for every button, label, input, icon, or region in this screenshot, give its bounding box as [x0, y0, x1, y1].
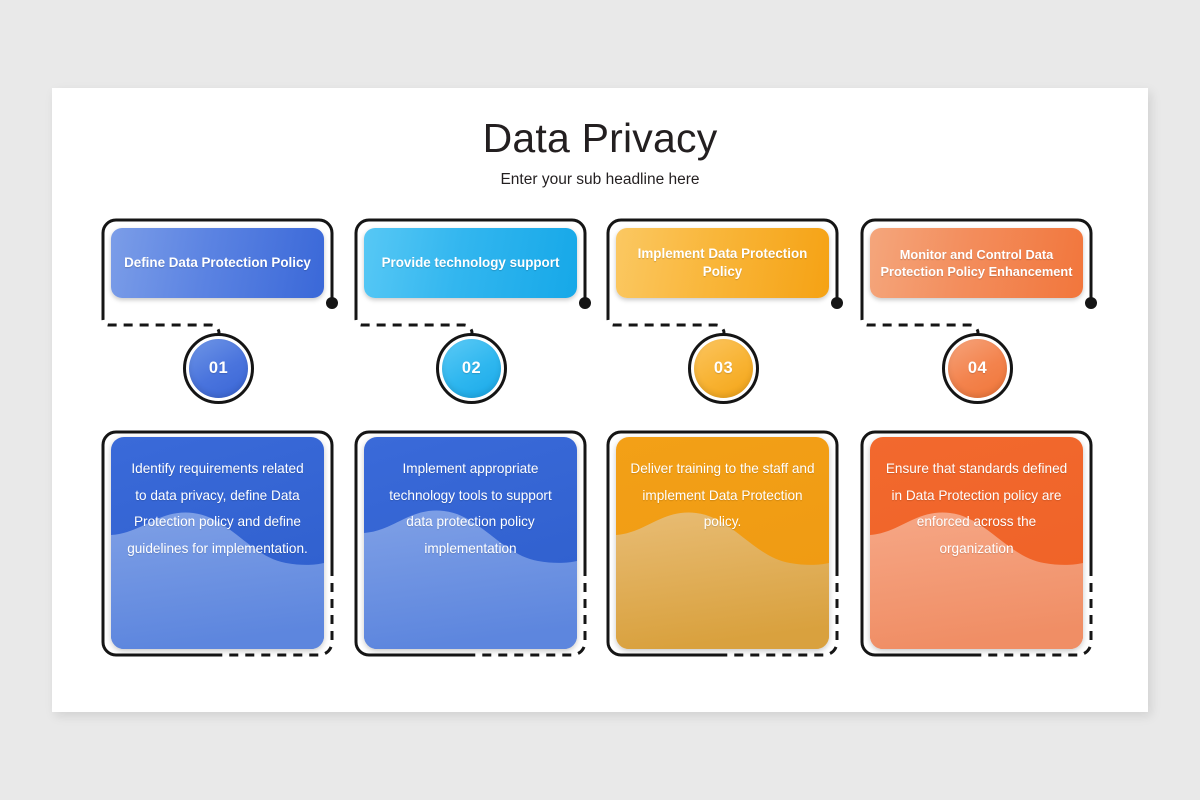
- slide-canvas: Data Privacy Enter your sub headline her…: [0, 0, 1200, 800]
- step-number-badge-03[interactable]: 03: [688, 333, 759, 404]
- connector-dot-02: [579, 297, 591, 309]
- step-body-text: Deliver training to the staff and implem…: [616, 456, 829, 536]
- page-subtitle: Enter your sub headline here: [52, 171, 1148, 189]
- step-top-label: Define Data Protection Policy: [124, 254, 311, 272]
- step-bottom-card-01[interactable]: Identify requirements related to data pr…: [111, 437, 324, 649]
- step-top-card-01[interactable]: Define Data Protection Policy: [111, 228, 324, 298]
- step-top-label: Provide technology support: [382, 254, 560, 272]
- step-top-card-04[interactable]: Monitor and Control Data Protection Poli…: [870, 228, 1083, 298]
- step-body-text: Identify requirements related to data pr…: [111, 456, 324, 562]
- step-column-02: Provide technology support 02: [351, 215, 604, 665]
- step-number: 04: [968, 359, 987, 378]
- step-number: 01: [209, 359, 228, 378]
- step-bottom-card-02[interactable]: Implement appropriate technology tools t…: [364, 437, 577, 649]
- page-title: Data Privacy: [52, 115, 1148, 162]
- step-number: 03: [714, 359, 733, 378]
- badge-fill: 03: [694, 339, 753, 398]
- step-column-04: Monitor and Control Data Protection Poli…: [857, 215, 1110, 665]
- step-top-label: Monitor and Control Data Protection Poli…: [880, 246, 1073, 281]
- step-bottom-card-04[interactable]: Ensure that standards defined in Data Pr…: [870, 437, 1083, 649]
- step-column-01: Define Data Protection Policy 01: [98, 215, 351, 665]
- step-body-text: Ensure that standards defined in Data Pr…: [870, 456, 1083, 562]
- badge-fill: 01: [189, 339, 248, 398]
- step-bottom-card-03[interactable]: Deliver training to the staff and implem…: [616, 437, 829, 649]
- connector-dot-04: [1085, 297, 1097, 309]
- step-number-badge-04[interactable]: 04: [942, 333, 1013, 404]
- badge-fill: 04: [948, 339, 1007, 398]
- connector-dot-01: [326, 297, 338, 309]
- connector-dot-03: [831, 297, 843, 309]
- step-column-03: Implement Data Protection Policy 03: [603, 215, 856, 665]
- step-top-card-03[interactable]: Implement Data Protection Policy: [616, 228, 829, 298]
- step-number-badge-01[interactable]: 01: [183, 333, 254, 404]
- step-number-badge-02[interactable]: 02: [436, 333, 507, 404]
- step-top-label: Implement Data Protection Policy: [626, 245, 819, 281]
- step-top-card-02[interactable]: Provide technology support: [364, 228, 577, 298]
- step-body-text: Implement appropriate technology tools t…: [364, 456, 577, 562]
- badge-fill: 02: [442, 339, 501, 398]
- slide-surface: Data Privacy Enter your sub headline her…: [52, 88, 1148, 712]
- step-number: 02: [462, 359, 481, 378]
